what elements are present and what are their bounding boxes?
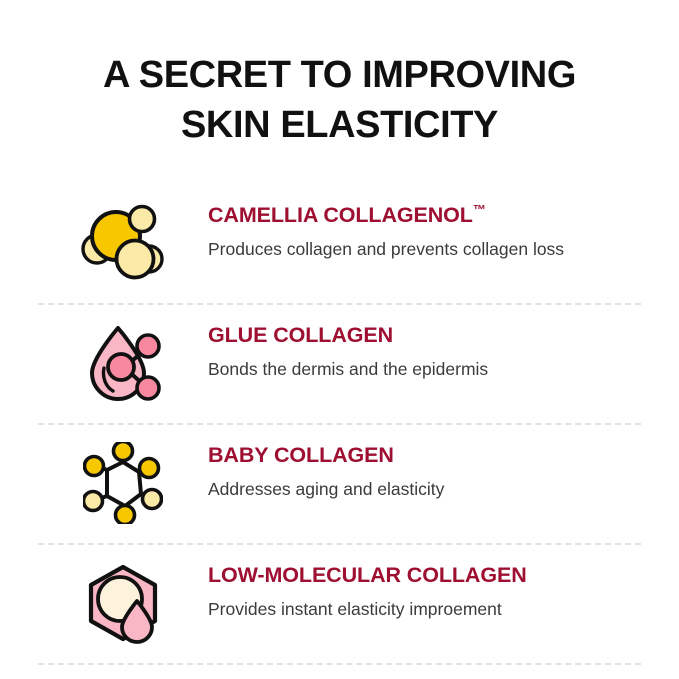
page-title: A SECRET TO IMPROVING SKIN ELASTICITY <box>0 0 679 150</box>
feature-title: GLUE COLLAGEN <box>208 323 641 348</box>
hexagon-droplet-icon <box>38 549 208 651</box>
feature-description: Bonds the dermis and the epidermis <box>208 357 638 381</box>
feature-text-baby-collagen: BABY COLLAGEN Addresses aging and elasti… <box>208 429 641 501</box>
feature-text-glue-collagen: GLUE COLLAGEN Bonds the dermis and the e… <box>208 309 641 381</box>
feature-title-text: CAMELLIA COLLAGENOL <box>208 203 473 227</box>
feature-description: Provides instant elasticity improement <box>208 597 638 621</box>
feature-description: Addresses aging and elasticity <box>208 477 638 501</box>
feature-text-low-molecular-collagen: LOW-MOLECULAR COLLAGEN Provides instant … <box>208 549 641 621</box>
feature-item-glue-collagen: GLUE COLLAGEN Bonds the dermis and the e… <box>38 305 641 423</box>
hexagon-molecule-icon <box>38 429 208 531</box>
feature-item-low-molecular-collagen: LOW-MOLECULAR COLLAGEN Provides instant … <box>38 545 641 663</box>
feature-title: CAMELLIA COLLAGENOL™ <box>208 203 641 228</box>
feature-title: BABY COLLAGEN <box>208 443 641 468</box>
feature-item-baby-collagen: BABY COLLAGEN Addresses aging and elasti… <box>38 425 641 543</box>
feature-list: CAMELLIA COLLAGENOL™ Produces collagen a… <box>0 185 679 665</box>
divider <box>38 663 641 665</box>
feature-title-text: BABY COLLAGEN <box>208 443 394 467</box>
feature-title-text: LOW-MOLECULAR COLLAGEN <box>208 563 527 587</box>
droplet-molecule-icon <box>38 309 208 411</box>
feature-title-text: GLUE COLLAGEN <box>208 323 393 347</box>
trademark-symbol: ™ <box>473 202 486 217</box>
feature-title: LOW-MOLECULAR COLLAGEN <box>208 563 641 588</box>
feature-description: Produces collagen and prevents collagen … <box>208 237 638 261</box>
infographic-page: A SECRET TO IMPROVING SKIN ELASTICITY <box>0 0 679 679</box>
page-title-line-2: SKIN ELASTICITY <box>0 100 679 150</box>
page-title-line-1: A SECRET TO IMPROVING <box>0 50 679 100</box>
feature-item-camellia-collagenol: CAMELLIA COLLAGENOL™ Produces collagen a… <box>38 185 641 303</box>
feature-text-camellia-collagenol: CAMELLIA COLLAGENOL™ Produces collagen a… <box>208 189 641 261</box>
collagen-bubbles-icon <box>38 189 208 291</box>
